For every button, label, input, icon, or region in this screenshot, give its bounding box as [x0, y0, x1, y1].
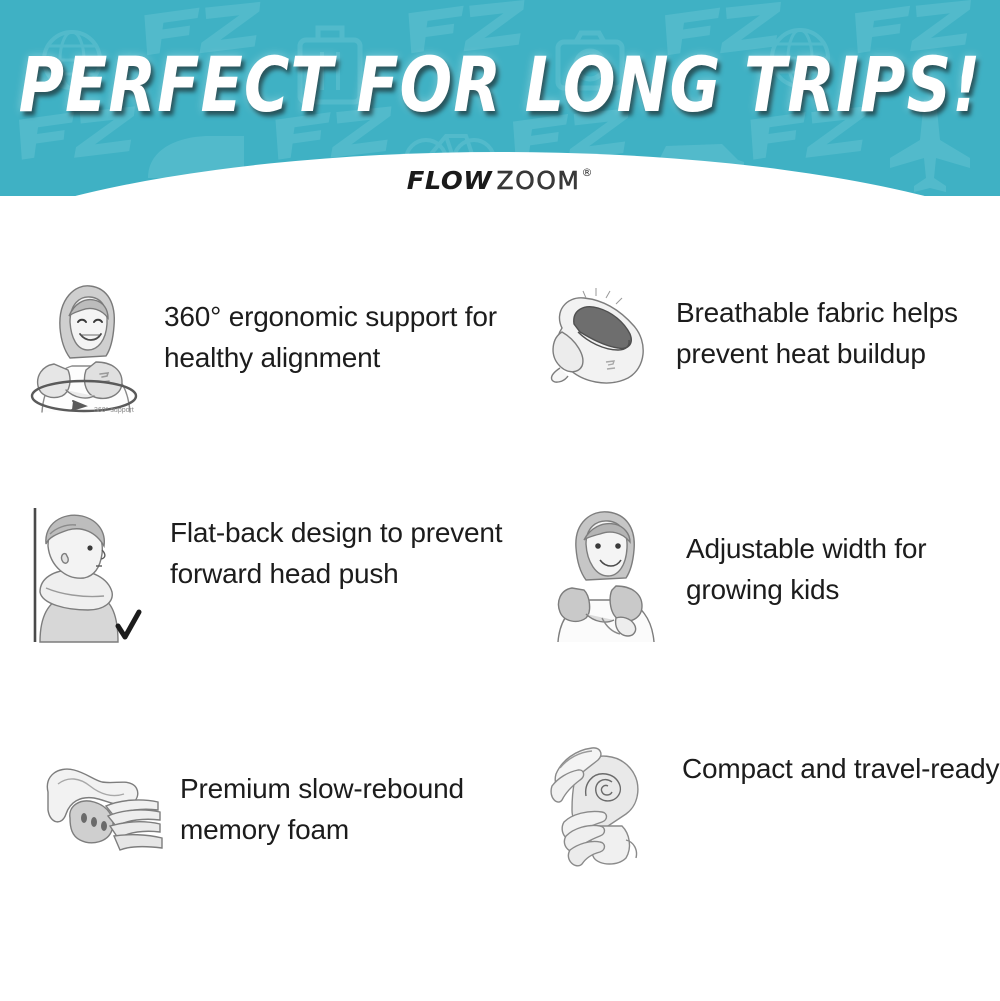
hand-pressing-memory-foam-icon	[36, 748, 166, 868]
logo-flow-text: FLOW	[407, 168, 492, 193]
feature-label: Premium slow-rebound memory foam	[166, 730, 510, 851]
checkmark-icon	[118, 612, 139, 637]
feature-label: Breathable fabric helps prevent heat bui…	[662, 270, 1000, 375]
brand-logo: FLOW ZOOM ®	[388, 160, 612, 200]
girl-wearing-neck-pillow-360-arrow-icon: 360° support	[20, 270, 150, 420]
boy-profile-against-wall-checkmark-icon	[26, 500, 156, 650]
hands-rolling-pillow-icon	[538, 730, 668, 880]
feature-item-memory-foam: Premium slow-rebound memory foam	[0, 730, 510, 930]
feature-label: Adjustable width for growing kids	[672, 500, 1000, 611]
feature-item-adjustable-width: Adjustable width for growing kids	[510, 500, 1000, 730]
boy-adjusting-neck-pillow-icon	[542, 500, 672, 650]
feature-label: Compact and travel-ready	[668, 730, 999, 789]
feature-label: 360° ergonomic support for healthy align…	[150, 270, 509, 379]
feature-grid: 360° support 360° ergonomic support for …	[0, 270, 1000, 930]
feature-item-ergonomic-support: 360° support 360° ergonomic support for …	[0, 270, 510, 500]
feature-item-flat-back-design: Flat-back design to prevent forward head…	[0, 500, 510, 730]
page-title: PERFECT FOR LONG TRIPS!	[0, 40, 1000, 129]
logo-zoom-text: ZOOM	[496, 168, 580, 193]
registered-trademark-icon: ®	[582, 167, 593, 178]
svg-text:360° support: 360° support	[94, 406, 134, 414]
feature-item-compact-travel-ready: Compact and travel-ready	[510, 730, 1000, 930]
feature-label: Flat-back design to prevent forward head…	[156, 500, 510, 595]
neck-pillow-breathable-mesh-icon	[532, 276, 662, 426]
feature-item-breathable-fabric: Breathable fabric helps prevent heat bui…	[510, 270, 1000, 500]
